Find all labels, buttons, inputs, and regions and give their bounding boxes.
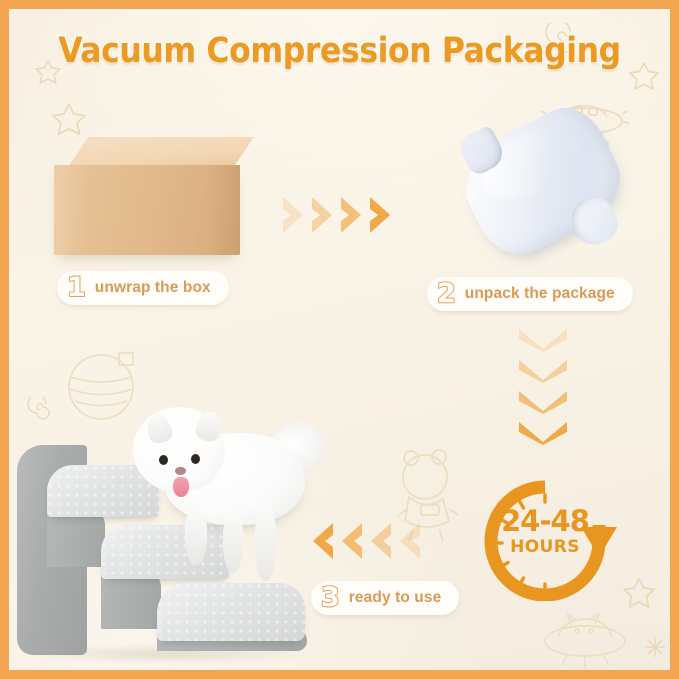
dog-head — [133, 407, 225, 493]
pomeranian-dog — [127, 389, 312, 589]
arrows-left — [311, 521, 422, 561]
dog-leg-mid — [223, 511, 243, 573]
cat-ufo-doodle-bottom-right — [537, 597, 647, 670]
chevron-down-icon — [517, 358, 569, 384]
step-badge-1: 1 unwrap the box — [57, 271, 229, 305]
box-front-face — [54, 165, 240, 255]
step-label-3: ready to use — [349, 589, 442, 607]
chevron-left-icon — [398, 521, 422, 561]
dog-nose — [175, 467, 186, 475]
infographic-canvas: Vacuum Compression Packaging — [9, 9, 670, 670]
arrows-down — [517, 327, 569, 446]
step-number-2: 2 — [437, 280, 456, 307]
chevron-down-icon — [517, 389, 569, 415]
box-top-face — [68, 137, 254, 167]
step-number-3: 3 — [321, 584, 340, 611]
chevron-left-icon — [340, 521, 364, 561]
dog-ear-right — [194, 409, 225, 444]
circular-arrow-clock-icon — [481, 479, 621, 601]
dog-eye-left — [159, 455, 168, 465]
dog-leg-front — [185, 507, 207, 565]
sparkle-doodle-bottom-right — [643, 635, 667, 659]
step-number-1: 1 — [67, 274, 86, 301]
arrows-right — [281, 195, 392, 235]
step-badge-2: 2 unpack the package — [427, 277, 633, 311]
step-label-2: unpack the package — [465, 285, 615, 303]
dog-tongue — [173, 477, 189, 497]
chevron-down-icon — [517, 327, 569, 353]
page-title: Vacuum Compression Packaging — [9, 31, 670, 71]
chevron-left-icon — [311, 521, 335, 561]
chevron-right-icon — [310, 195, 334, 235]
stair-tread-3 — [157, 583, 305, 641]
dog-on-pet-stairs-photo — [17, 397, 317, 665]
turnaround-time-badge: 24-48 HOURS — [481, 479, 621, 601]
star-doodle-top-left-2 — [49, 99, 89, 139]
chevron-right-icon — [368, 195, 392, 235]
infographic-root: Vacuum Compression Packaging — [0, 0, 679, 679]
chevron-right-icon — [339, 195, 363, 235]
chevron-down-icon — [517, 420, 569, 446]
step-label-1: unwrap the box — [95, 279, 211, 297]
dog-ear-left — [143, 410, 174, 445]
vacuum-sealed-roll-photo — [457, 109, 622, 254]
chevron-right-icon — [281, 195, 305, 235]
dog-eye-right — [191, 454, 200, 464]
step-badge-3: 3 ready to use — [311, 581, 459, 615]
chevron-left-icon — [369, 521, 393, 561]
star-doodle-bottom-right — [621, 575, 657, 611]
dog-leg-rear — [255, 505, 276, 581]
cardboard-box-photo — [54, 137, 254, 255]
box-seam — [54, 165, 240, 255]
